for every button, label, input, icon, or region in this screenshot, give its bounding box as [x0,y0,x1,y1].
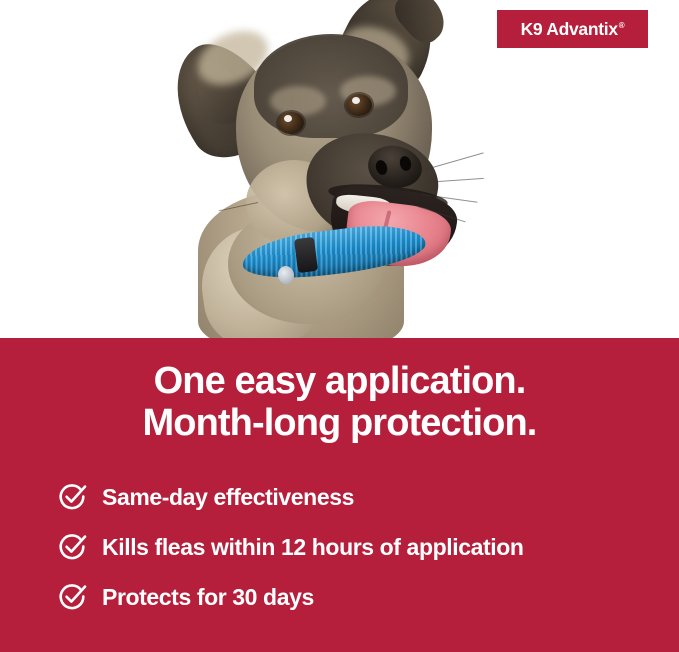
dog-brow-left [270,86,326,116]
check-circle-icon [58,582,88,612]
list-item: Protects for 30 days [58,572,668,622]
dog-eye-right-glint [352,97,360,104]
dog-whisker [422,152,484,171]
check-circle-icon [58,532,88,562]
check-circle-icon [58,482,88,512]
dog-collar-buckle [294,237,318,273]
promo-panel: One easy application. Month-long protect… [0,338,679,652]
brand-logo-badge: K9 Advantix® [497,10,648,48]
headline-line-2: Month-long protection. [0,402,679,444]
hero-photo-area: K9 Advantix® [0,0,679,338]
headline: One easy application. Month-long protect… [0,360,679,444]
brand-logo-name: K9 Advantix [521,19,618,39]
registered-trademark-icon: ® [619,21,625,30]
list-item: Same-day effectiveness [58,472,668,522]
brand-logo-text: K9 Advantix® [521,19,625,40]
list-item-label: Kills fleas within 12 hours of applicati… [102,534,524,561]
dog-photo [150,0,490,338]
product-ad-banner: K9 Advantix® One easy application. Month… [0,0,679,652]
benefit-list: Same-day effectiveness Kills fleas withi… [58,472,668,622]
list-item-label: Same-day effectiveness [102,484,354,511]
headline-line-1: One easy application. [154,360,526,402]
list-item: Kills fleas within 12 hours of applicati… [58,522,668,572]
list-item-label: Protects for 30 days [102,584,314,611]
dog-eye-left-glint [284,115,292,122]
